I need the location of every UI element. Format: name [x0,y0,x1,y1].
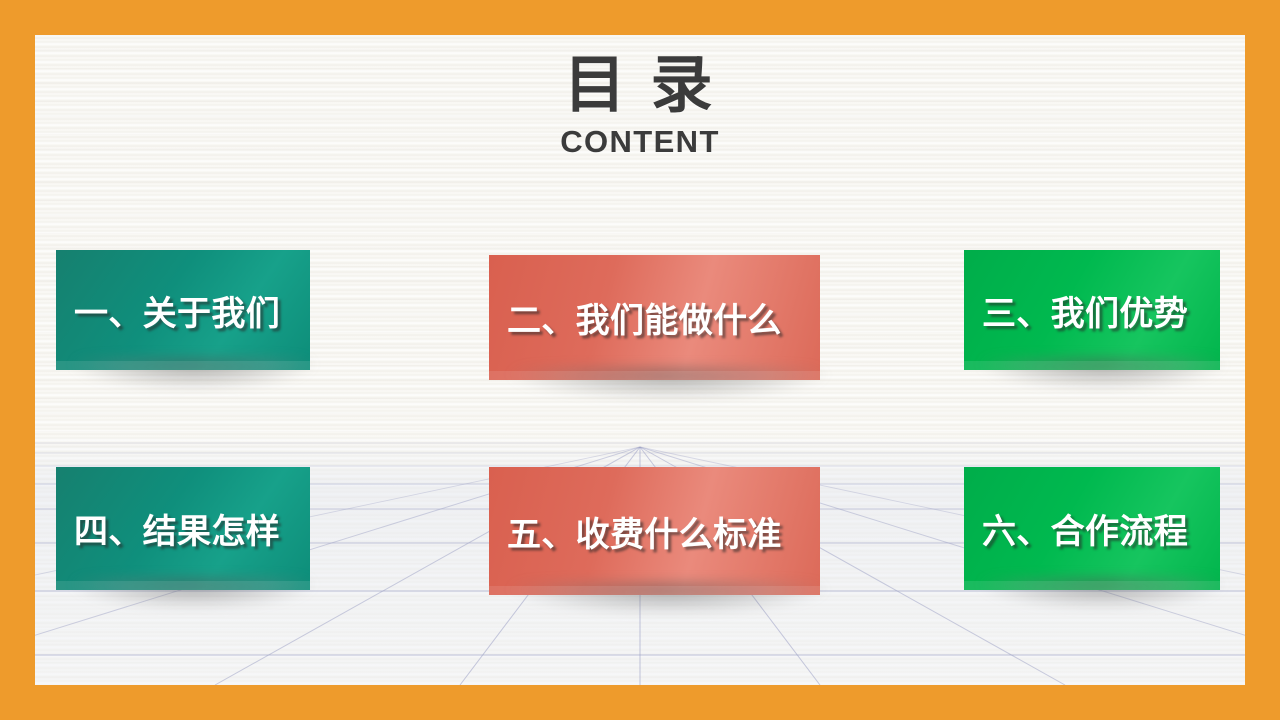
slide-panel: 目 录 CONTENT 一、关于我们 二、我们能做什么 三、我们优势 四、结果怎… [35,35,1245,685]
agenda-item-3-label: 三、我们优势 [964,286,1220,335]
agenda-item-5[interactable]: 五、收费什么标准 [489,467,820,595]
agenda-item-4-label: 四、结果怎样 [56,504,310,553]
agenda-item-1[interactable]: 一、关于我们 [56,250,310,370]
agenda-item-6-label: 六、合作流程 [964,504,1220,553]
agenda-item-4[interactable]: 四、结果怎样 [56,467,310,590]
plate-lip [964,581,1220,590]
page-title: 目 录 [35,53,1245,118]
agenda-item-3[interactable]: 三、我们优势 [964,250,1220,370]
plate-lip [489,586,820,595]
title-block: 目 录 CONTENT [35,53,1245,160]
page-subtitle: CONTENT [35,124,1245,160]
agenda-item-2-label: 二、我们能做什么 [489,293,820,342]
agenda-item-2[interactable]: 二、我们能做什么 [489,255,820,380]
agenda-item-5-label: 五、收费什么标准 [489,507,820,556]
agenda-item-1-label: 一、关于我们 [56,286,310,335]
plate-lip [56,581,310,590]
plate-lip [489,371,820,380]
plate-lip [56,361,310,370]
agenda-item-6[interactable]: 六、合作流程 [964,467,1220,590]
plate-lip [964,361,1220,370]
slide-canvas: 目 录 CONTENT 一、关于我们 二、我们能做什么 三、我们优势 四、结果怎… [0,0,1280,720]
